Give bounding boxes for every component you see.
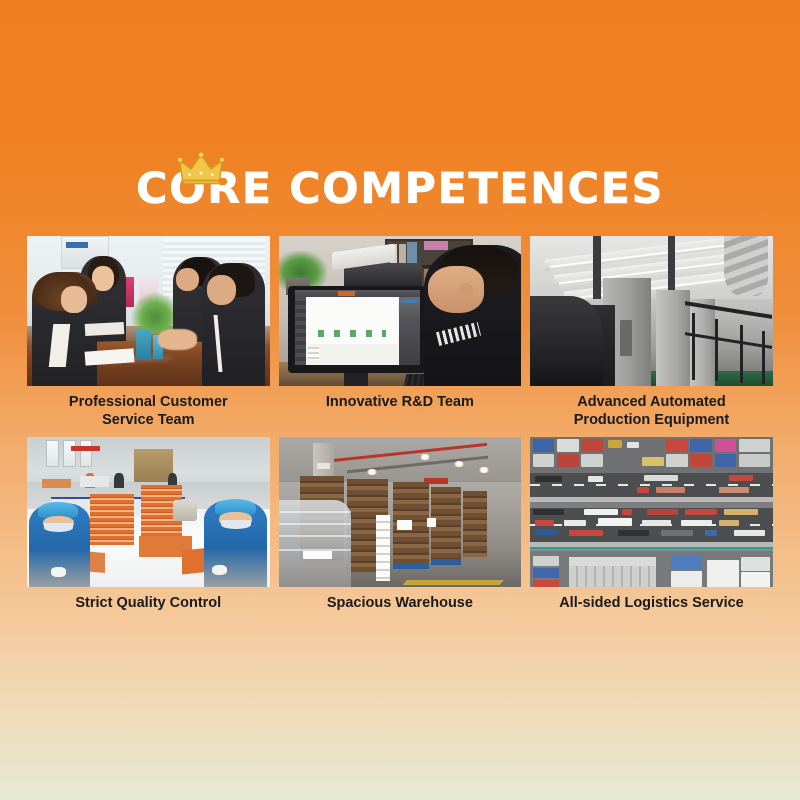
competences-grid: Professional Customer Service Team (27, 236, 773, 612)
card-caption: All-sided Logistics Service (530, 587, 773, 612)
card-innovative-rd-team[interactable]: Innovative R&D Team (279, 236, 522, 429)
photo-customer-service-meeting (27, 236, 270, 386)
card-caption: Strict Quality Control (27, 587, 270, 612)
card-strict-quality-control[interactable]: Strict Quality Control (27, 437, 270, 612)
core-competences-banner: CORE COMPETENCES (0, 0, 800, 800)
photo-quality-control-workshop (27, 437, 270, 587)
card-advanced-automated-production-equipment[interactable]: Advanced Automated Production Equipment (530, 236, 773, 429)
photo-aerial-container-port (530, 437, 773, 587)
card-caption: Innovative R&D Team (279, 386, 522, 411)
card-all-sided-logistics-service[interactable]: All-sided Logistics Service (530, 437, 773, 612)
grid-row-1: Professional Customer Service Team (27, 236, 773, 429)
photo-warehouse-pallets (279, 437, 522, 587)
card-caption: Advanced Automated Production Equipment (530, 386, 773, 429)
card-professional-customer-service-team[interactable]: Professional Customer Service Team (27, 236, 270, 429)
grid-row-2: Strict Quality Control (27, 437, 773, 612)
card-caption: Spacious Warehouse (279, 587, 522, 612)
card-caption: Professional Customer Service Team (27, 386, 270, 429)
photo-printing-press-line (530, 236, 773, 386)
card-spacious-warehouse[interactable]: Spacious Warehouse (279, 437, 522, 612)
crown-icon (178, 152, 224, 186)
photo-rd-designer-monitor (279, 236, 522, 386)
header: CORE COMPETENCES (0, 150, 800, 211)
